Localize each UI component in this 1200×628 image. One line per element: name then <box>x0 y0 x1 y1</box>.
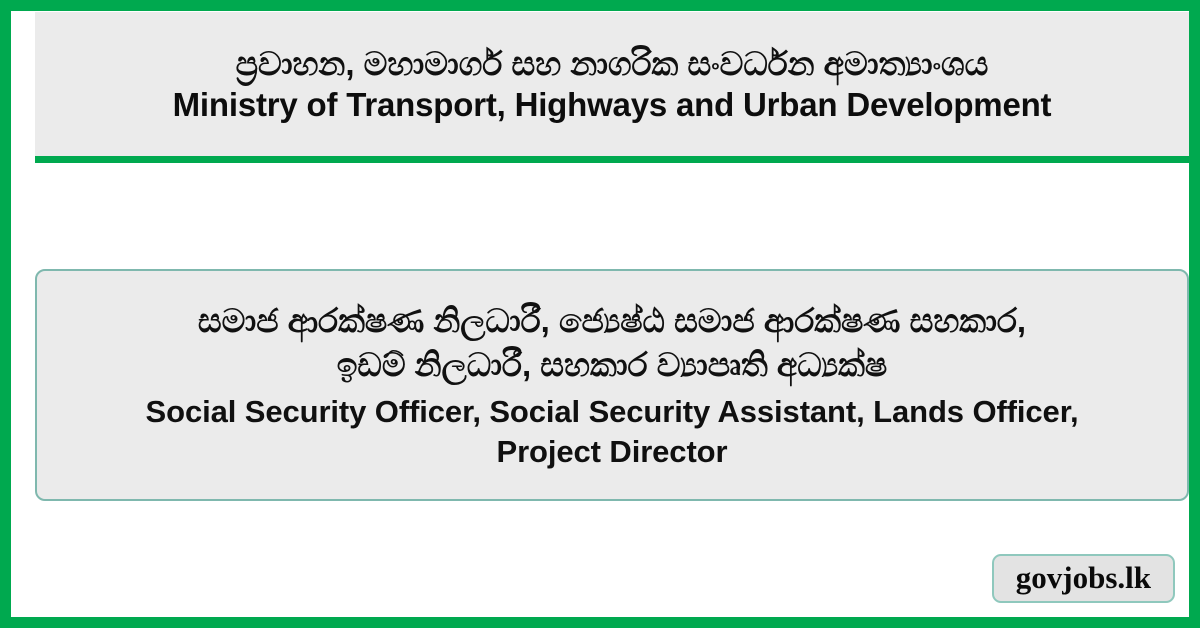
job-titles-sinhala: සමාජ ආරක්ෂණ නිලධාරී, ජ්‍යෙෂ්ඨ සමාජ ආරක්ෂ… <box>198 299 1026 388</box>
govjobs-brand-badge[interactable]: govjobs.lk <box>992 554 1175 603</box>
poster-frame: ප්‍රවාහන, මහාමාර්ග සහ නාගරික සංවර්ධන අමා… <box>0 0 1200 628</box>
ministry-header-band: ප්‍රවාහන, මහාමාර්ග සහ නාගරික සංවර්ධන අමා… <box>35 12 1189 163</box>
job-title-sinhala-line-2: ඉඩම් නිලධාරී, සහකාර ව්‍යාපෘති අධ්‍යක්ෂ <box>198 343 1026 388</box>
job-title-sinhala-line-1: සමාජ ආරක්ෂණ නිලධාරී, ජ්‍යෙෂ්ඨ සමාජ ආරක්ෂ… <box>198 299 1026 344</box>
job-title-english-line-1: Social Security Officer, Social Security… <box>146 392 1079 432</box>
govjobs-brand-label: govjobs.lk <box>1016 562 1151 593</box>
ministry-title-english: Ministry of Transport, Highways and Urba… <box>173 87 1052 123</box>
vacancy-title-card: සමාජ ආරක්ෂණ නිලධාරී, ජ්‍යෙෂ්ඨ සමාජ ආරක්ෂ… <box>35 269 1189 501</box>
ministry-title-sinhala: ප්‍රවාහන, මහාමාර්ග සහ නාගරික සංවර්ධන අමා… <box>236 45 989 83</box>
job-titles-english: Social Security Officer, Social Security… <box>146 392 1079 471</box>
job-title-english-line-2: Project Director <box>146 432 1079 472</box>
